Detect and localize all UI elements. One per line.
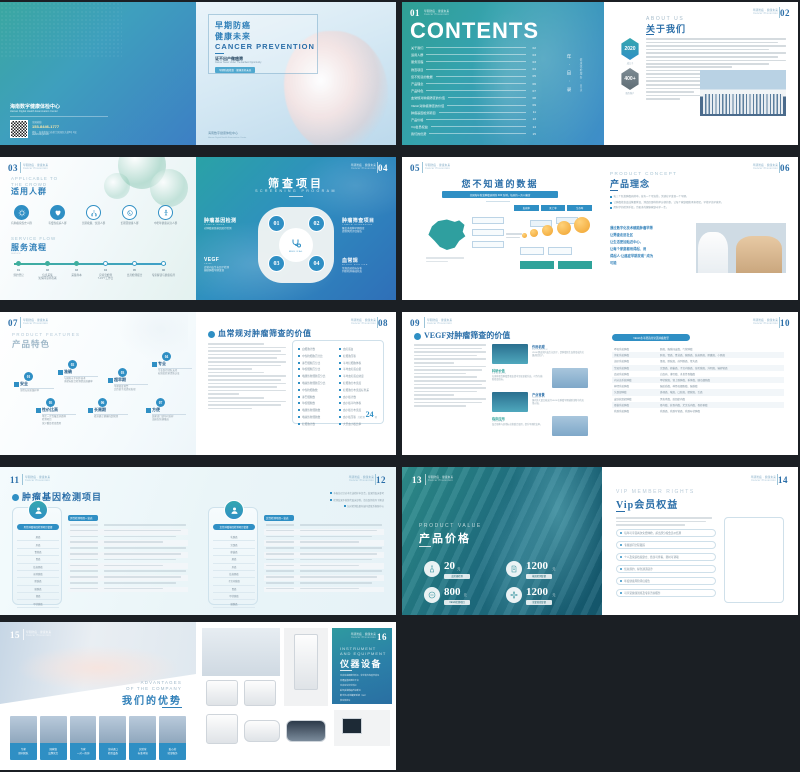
page-tag-en: Cancer Prevention — [427, 322, 452, 325]
crowd-icon-label: 长期亚健康人群 — [115, 222, 144, 225]
page-tag-en: Cancer Prevention — [428, 479, 453, 482]
feature-number[interactable]: 06 — [98, 398, 107, 407]
concept-slogan: 让生活更加贴近中心， — [610, 239, 690, 246]
lungs-icon[interactable] — [86, 205, 101, 220]
company-name-en: Hainan Digital Health Examination Center — [10, 110, 58, 113]
list-item-label: 红细胞分布宽度 — [343, 381, 361, 385]
screening-node-03[interactable]: 03 — [268, 255, 285, 272]
advantage-label: 全球进口 检验设备 — [99, 743, 126, 760]
screening-node-04[interactable]: 04 — [308, 255, 325, 272]
feature-desc: 居家或门诊均可采样 出报告快捷推送 — [152, 415, 194, 422]
feature-number[interactable]: 05 — [46, 398, 55, 407]
concept-bullet-text: 每三个新发肿瘤病例中，就有一个可治愈，关键在早发现一个早期。 — [614, 195, 689, 199]
price-label: 全套筛查套餐 — [526, 600, 552, 605]
divider — [779, 317, 780, 328]
equipment-title-en-2: AND EQUIPMENT — [340, 651, 386, 656]
advantage-label: 专家 一对一咨询 — [70, 743, 97, 760]
vegf-card-en: CLINICAL — [492, 421, 544, 423]
stomach-icon[interactable] — [122, 205, 137, 220]
list-item: 中性粒细胞百分比 — [298, 354, 325, 358]
screening-item-en: TUMOR SCREENING — [342, 224, 390, 226]
data-column-head: 死亡率 — [541, 205, 566, 211]
table-cell-key — [264, 587, 298, 593]
concept-bullet: 每三个新发肿瘤病例中，就有一个可治愈，关键在早发现一个早期。 — [610, 195, 786, 199]
exam-bed-icon — [244, 720, 280, 742]
feature-desc: 全程无创采集样本 — [20, 389, 62, 392]
list-item: 淋巴细胞百分比 — [298, 361, 325, 365]
advantages-title-cn: 我们的优势 — [122, 692, 182, 707]
list-item: 乳腺癌 — [213, 534, 255, 541]
bullet-square-icon — [339, 355, 341, 357]
toc-dash — [436, 76, 526, 77]
page-number: 01 — [410, 8, 420, 18]
bullet-dot-icon — [414, 333, 421, 340]
vip-right-pill[interactable]: 每年可享受两次免费体检，超出部分按会员价结算 — [616, 529, 716, 537]
feature-marker — [58, 370, 63, 375]
advantage-card[interactable]: 国家级 品牌实力 — [40, 716, 67, 760]
page-back-cover: 海南数字健康体检中心 Hainan Digital Health Examina… — [0, 2, 196, 145]
page-number: 16 — [377, 632, 387, 642]
advantage-label: 实验室 标准环境 — [129, 743, 156, 760]
toc-row[interactable]: Vip会员权益14 — [411, 123, 536, 130]
list-item: 单核细胞百分比 — [298, 367, 325, 371]
list-item: 血小板计数 — [339, 395, 369, 399]
vip-right-pill[interactable]: 优先预约、绿色通道就诊 — [616, 565, 716, 573]
spread-vegf-table[interactable]: 09 早期防癌 · 健康未来 Cancer Prevention VEGF对肿瘤… — [402, 312, 798, 455]
vip-right-label: 专属顾问全程跟踪 — [624, 543, 645, 547]
divider — [10, 116, 108, 117]
screening-node-01[interactable]: 01 — [268, 215, 285, 232]
gene-note-text: 本报告仅针对本次送检样本负责，结果供临床参考 — [333, 491, 384, 495]
screening-title-en: SCREENING PROGRAM — [196, 189, 396, 193]
list-item-label: 单核细胞数 — [302, 401, 315, 405]
spread-features-blood[interactable]: 07 早期防癌 · 健康未来 Cancer Prevention PRODUCT… — [0, 312, 396, 455]
divider — [23, 629, 24, 640]
toc-dash — [426, 83, 526, 84]
flow-step-label: 实验室检测 7-15个工作日 — [92, 274, 119, 281]
screening-item-desc: 血管内皮生长因子检测 辅助肿瘤早期发现 — [204, 266, 252, 273]
divider — [486, 201, 510, 202]
dot-pattern — [0, 2, 122, 59]
crowd-title-cn: 适用人群 — [11, 186, 47, 197]
list-item-label: 血小板平均体积 — [343, 401, 361, 405]
list-item-label: 白细胞计数 — [302, 347, 315, 351]
female-avatar-icon — [224, 500, 244, 520]
equipment-list-item: 高通量基因测序平台 — [340, 680, 386, 683]
toc-label: VEGF对肿瘤筛查的价值 — [411, 103, 444, 108]
badge-year: 2020 — [620, 38, 640, 60]
screening-item-title: 血常规 — [342, 257, 390, 264]
male-package-card: 男性肿瘤基因检测项目套餐 肺癌肝癌食管癌胃癌结直肠癌前列腺癌膀胱癌胰腺癌肾癌甲状… — [12, 507, 62, 605]
blood-title: 血常规对肿瘤筛查的价值 — [218, 328, 312, 339]
list-item: 平均血红蛋白量 — [339, 367, 369, 371]
table-cell-value — [298, 587, 384, 593]
page-tag-en-right: Cancer Prevention — [349, 479, 374, 482]
toc-page-number: 07 — [529, 89, 536, 93]
page-product-price: 13 早期防癌 · 健康未来 Cancer Prevention PRODUCT… — [402, 467, 602, 615]
vip-right-pill[interactable]: 个人及家庭档案建立、终身可查看、随时可调取 — [616, 553, 716, 561]
data-column-head: 生存率 — [567, 205, 592, 211]
equipment-photo-monitor — [334, 710, 390, 746]
flow-steps[interactable]: 01预约登记02信息采集 知情同意书签署03采集样本04实验室检测 7-15个工… — [8, 258, 188, 288]
ultrasound-cart-icon — [294, 634, 318, 690]
bullet-square-icon — [298, 355, 300, 357]
bullet-square-icon — [339, 375, 341, 377]
list-item: 卵巢癌 — [213, 549, 255, 556]
toc-row[interactable]: 产品价格13 — [411, 116, 536, 123]
crowd-icon-row[interactable]: 有肿瘤家族史人群有慢性疾病人群长期吸烟、饮酒人群长期亚健康人群中老年健康关注人群 — [8, 205, 188, 229]
page-tag-en: Cancer Prevention — [751, 479, 776, 482]
feature-number[interactable]: 07 — [156, 398, 165, 407]
toc-dash — [429, 133, 526, 134]
toc-row[interactable]: 产品理念06 — [411, 80, 536, 87]
page-tag-en: Cancer Prevention — [25, 479, 50, 482]
list-item: 胃癌 — [17, 556, 59, 563]
gene-notes: 本报告仅针对本次送检样本负责，结果供临床参考检测结果不能替代临床诊断，请在医师指… — [278, 491, 384, 511]
cover-headline-2: 健康未来 — [215, 31, 251, 42]
table-row — [68, 587, 188, 593]
screening-item-en: VEGF — [204, 263, 252, 265]
feature-title: 安全 — [20, 381, 28, 387]
bullet-dot-icon — [610, 196, 612, 198]
toc-row[interactable]: 筛查项目04 — [411, 66, 536, 73]
concept-title-en: PRODUCT CONCEPT — [610, 171, 677, 176]
ct-scanner-icon — [206, 680, 238, 706]
advantage-image — [99, 716, 126, 743]
bullet-square-icon — [298, 409, 300, 411]
list-item: 平均血红蛋白浓度 — [339, 374, 369, 378]
bullet-dot-icon — [620, 532, 622, 534]
gene-note: 检测结果不能替代临床诊断，请在医师指导下解读 — [278, 498, 384, 502]
advantage-image — [129, 716, 156, 743]
feature-marker — [146, 408, 151, 413]
flow-title-cn: 服务流程 — [11, 242, 47, 253]
page-tag-en: Cancer Prevention — [425, 167, 450, 170]
vip-right-pill[interactable]: 专属顾问全程跟踪 — [616, 541, 716, 549]
divider — [377, 162, 378, 173]
vegf-card-image — [492, 344, 528, 364]
bullet-dot-icon — [12, 494, 19, 501]
list-item: 淋巴细胞数 — [298, 395, 325, 399]
bullet-dot-icon — [610, 207, 612, 209]
cover-text-box: 早期防癌 健康未来 CANCER PREVENTION 证不出户做癌筛 Canc… — [208, 14, 318, 74]
stethoscope-icon — [290, 238, 302, 250]
divider — [340, 670, 352, 671]
divider — [610, 190, 618, 191]
vip-right-pill[interactable]: 可享受健康讲座及专家咨询服务 — [616, 589, 716, 597]
list-item-label: 嗜酸性粒细胞数 — [302, 408, 320, 412]
list-item: 大型血小板比率 — [339, 422, 369, 426]
features-title-cn: 产品特色 — [12, 338, 50, 350]
flow-node[interactable] — [132, 261, 137, 266]
divider — [779, 7, 780, 18]
spread-advantages-equipment[interactable]: 15 早期防癌 · 健康未来 Cancer Prevention ADVANTA… — [0, 622, 396, 770]
spread-cover[interactable]: 海南数字健康体检中心 Hainan Digital Health Examina… — [0, 2, 396, 145]
concept-bullet-text: 让肿瘤筛查变成像量体温、测血压那样简单方便的事，让每个家庭都能承担得起，早筛早治… — [614, 201, 724, 205]
feature-marker — [36, 408, 41, 413]
page-about-us: 02 早期防癌 · 健康未来 Cancer Prevention ABOUT U… — [604, 2, 798, 145]
cover-footer-brand-en: Hainan Digital Health Examination Center — [208, 137, 246, 139]
heart-icon[interactable] — [50, 205, 65, 220]
person-icon[interactable] — [158, 205, 173, 220]
vegf-card: 作用机理MECHANISMVEGF即血管内皮生长因子，是肿瘤新生血管形成的关键调… — [532, 344, 584, 358]
vegf-card-en: RESEARCH — [492, 373, 544, 375]
toc-row[interactable]: 关于我们02 — [411, 44, 536, 51]
page-tumor-type-table: 10 早期防癌 · 健康未来 Cancer Prevention VEGF水平增… — [598, 312, 798, 455]
list-item: 中性粒细胞数 — [298, 388, 325, 392]
page-number: 07 — [8, 318, 18, 328]
vegf-card-desc: 在多种恶性肿瘤患者血清中呈现显著升高，可作为辅助筛查指标。 — [492, 376, 544, 382]
divider — [377, 317, 378, 328]
advantage-image — [10, 716, 37, 743]
page-tag-en: Cancer Prevention — [753, 322, 778, 325]
bullet-square-icon — [298, 362, 300, 364]
vegf-card: 临床应用CLINICAL结合影像与其他标志物联合使用，提升早期检出率。 — [492, 416, 544, 427]
screening-node-02[interactable]: 02 — [308, 215, 325, 232]
toc-label: Vip会员权益 — [411, 124, 428, 129]
divider — [20, 162, 21, 173]
page-applicable-crowd: 03 早期防癌 · 健康未来 Cancer Prevention APPLICA… — [0, 157, 196, 300]
toc-row[interactable]: 血常规对肿瘤筛查的价值08 — [411, 94, 536, 101]
toc-row[interactable]: 您不知道的数据05 — [411, 73, 536, 80]
contact-phone: 153-8446-1777 — [32, 124, 59, 129]
price-value: 20 — [444, 560, 455, 572]
toc-label: 产品价格 — [411, 117, 423, 122]
advantage-card[interactable]: 贴心的 转诊服务 — [159, 716, 186, 760]
screening-item-title: 肿瘤基因检测 — [204, 217, 252, 224]
concept-slogan: 得起人·让癌症早期发现" 成为 — [610, 253, 690, 260]
feature-number[interactable]: 01 — [24, 372, 33, 381]
page-number: 04 — [378, 163, 388, 173]
feature-title: 性价比高 — [42, 407, 58, 413]
table-cell-value: 乳腺癌、乳腺导管癌、乳腺叶状肿瘤 — [658, 408, 784, 414]
feature-number[interactable]: 02 — [68, 360, 77, 369]
toc-page-number: 09 — [529, 103, 536, 107]
toc-label: 血常规对肿瘤筛查的价值 — [411, 95, 445, 100]
equipment-list-item: 全自动生化分析仪 — [340, 685, 386, 688]
toc-row[interactable]: VEGF对肿瘤筛查的价值09 — [411, 102, 536, 109]
female-card-tag: 女性肿瘤基因检测项目套餐 — [213, 524, 255, 530]
page-tag-en: Cancer Prevention — [753, 12, 778, 15]
flow-node[interactable] — [103, 261, 108, 266]
equipment-photo-consult — [202, 628, 280, 676]
crowd-icon-label: 有慢性疾病人群 — [43, 222, 72, 225]
advantages-title-en-1: ADVANTAGES — [141, 680, 182, 685]
toc-row[interactable]: 适用人群03 — [411, 51, 536, 58]
concept-slogan-list: 通过数字化技术赋能肿瘤早筛让筛查走进社区让生活更加贴近中心，让每个家庭都用得起、… — [610, 225, 690, 267]
mobile-exam-bus-icon — [286, 720, 326, 742]
vegf-card-desc: 结合影像与其他标志物联合使用，提升早期检出率。 — [492, 424, 544, 427]
divider — [94, 414, 128, 415]
flow-title-en: SERVICE FLOW — [11, 236, 56, 241]
flow-step-label: 预约登记 — [5, 274, 32, 277]
flow-subtitle: SERVICE — [11, 253, 21, 255]
page-contents: 01 早期防癌 · 健康未来 Cancer Prevention CONTENT… — [402, 2, 604, 145]
toc-row[interactable]: 肿瘤基因检测项目11 — [411, 109, 536, 116]
screening-item-text: VEGFVEGF血管内皮生长因子检测 辅助肿瘤早期发现 — [204, 257, 252, 273]
vip-photo-placeholder — [724, 517, 784, 603]
data-subtitle-band: 全国每年新发肿瘤病例约 400 万例，每天约一万人确诊 — [442, 191, 558, 198]
about-body-text — [646, 38, 786, 67]
equipment-list-item: 全自动血细胞分析仪 · 化学发光免疫分析仪 — [340, 675, 386, 678]
page-number: 02 — [780, 8, 790, 18]
feature-title: 长周期 — [94, 407, 106, 413]
vegf-card-image — [552, 416, 588, 436]
divider — [42, 414, 76, 415]
toc-label: 适用人群 — [411, 52, 423, 57]
bullet-square-icon — [339, 423, 341, 425]
vegf-card-en: INDUSTRY — [532, 397, 584, 399]
flow-node[interactable] — [45, 261, 50, 266]
toc-row[interactable]: 我们的优势15 — [411, 130, 536, 137]
flow-node[interactable] — [16, 261, 21, 266]
screening-item-desc: 对肿瘤易感基因进行检测 — [204, 227, 252, 230]
bullet-square-icon — [298, 423, 300, 425]
price-title-en: PRODUCT VALUE — [419, 523, 482, 529]
list-item: 嗜酸性粒细胞数 — [298, 408, 325, 412]
cover-tagline: 早期防癌筛查 · 健康美好未来 — [215, 67, 255, 73]
contents-list[interactable]: 关于我们02适用人群03服务流程03筛查项目04您不知道的数据05产品理念06产… — [411, 44, 536, 137]
hub-label: MEDICAL — [289, 251, 303, 253]
divider — [152, 414, 186, 415]
company-name-cn: 海南数字健康体检中心 — [10, 103, 60, 110]
price-label: VEGF检测项目 — [444, 600, 470, 605]
toc-dash — [439, 112, 526, 113]
male-item-list: 肺癌肝癌食管癌胃癌结直肠癌前列腺癌膀胱癌胰腺癌肾癌甲状腺癌 — [17, 534, 59, 608]
list-item-label: 血小板压积 — [343, 415, 356, 419]
spread-crowd-screening[interactable]: 03 早期防癌 · 健康未来 Cancer Prevention APPLICA… — [0, 157, 396, 300]
bubble-4 — [557, 221, 571, 235]
flow-step-label: 信息采集 知情同意书签署 — [34, 274, 61, 281]
page-number: 09 — [410, 318, 420, 328]
flow-step-label: 采集样本 — [63, 274, 90, 277]
advantage-card-row[interactable]: 专家 顾问团队国家级 品牌实力专家 一对一咨询全球进口 检验设备实验室 标准环境… — [10, 716, 186, 760]
map-note — [426, 257, 466, 264]
toc-row[interactable]: 服务流程03 — [411, 58, 536, 65]
bullet-square-icon — [339, 368, 341, 370]
toc-dash — [431, 126, 526, 127]
divider — [616, 511, 625, 512]
advantage-label: 国家级 品牌实力 — [40, 743, 67, 760]
concept-bullet-text: 用科学的检测手段，为更多的健康家庭守护一生。 — [614, 206, 669, 210]
advantage-image — [159, 716, 186, 743]
crowd-icon-label: 有肿瘤家族史人群 — [7, 222, 36, 225]
blood-indicator-panel: 白细胞计数中性粒细胞百分比淋巴细胞百分比单核细胞百分比嗜酸性粒细胞百分比嗜碱性粒… — [292, 340, 384, 424]
vegf-card-image — [552, 368, 588, 388]
vegf-card-desc: 国内外大量文献支持VEGF在肿瘤早期辅助诊断中的应用价值。 — [532, 400, 584, 406]
page-tag-en: Cancer Prevention — [351, 167, 376, 170]
page-number: 08 — [378, 318, 388, 328]
concept-slogan: 让筛查走进社区 — [610, 232, 690, 239]
divider — [646, 34, 654, 35]
toc-page-number: 13 — [529, 117, 536, 121]
advantage-card[interactable]: 实验室 标准环境 — [129, 716, 156, 760]
bubble-1 — [522, 233, 527, 238]
monitor-icon — [342, 718, 362, 734]
blood-badge-unit: 项 — [375, 415, 377, 419]
feature-title: 方便 — [152, 407, 160, 413]
feature-number[interactable]: 04 — [162, 352, 171, 361]
advantage-card[interactable]: 专家 顾问团队 — [10, 716, 37, 760]
equipment-list-item: 数字化X射线摄影系统（DR） — [340, 695, 386, 698]
screening-hub: MEDICAL — [279, 228, 313, 262]
flow-node[interactable] — [161, 261, 166, 266]
list-item: 血红蛋白 — [339, 347, 369, 351]
toc-dash — [426, 47, 526, 48]
list-item: 平均红细胞体积 — [339, 361, 369, 365]
advantage-label: 专家 顾问团队 — [10, 743, 37, 760]
divider — [20, 388, 54, 389]
price-title-cn: 产品价格 — [419, 530, 471, 546]
toc-page-number: 08 — [529, 96, 536, 100]
flow-step-number: 01 — [7, 269, 30, 272]
divider — [375, 474, 376, 485]
feature-number[interactable]: 03 — [118, 368, 127, 377]
vip-right-pill[interactable]: 年度健康风险评估报告 — [616, 577, 716, 585]
list-item-label: 平均红细胞体积 — [343, 361, 361, 365]
page-tag-en: Cancer Prevention — [351, 322, 376, 325]
gene-note-text: 检测结果不能替代临床诊断，请在医师指导下解读 — [333, 498, 384, 502]
divider — [777, 474, 778, 485]
advantage-card[interactable]: 专家 一对一咨询 — [70, 716, 97, 760]
vertical-subtitle: 健康体检服务 · 目录 — [578, 58, 582, 92]
concept-bullet-list: 每三个新发肿瘤病例中，就有一个可治愈，关键在早发现一个早期。让肿瘤筛查变成像量体… — [610, 195, 786, 212]
list-item-label: 嗜酸性粒细胞百分比 — [302, 374, 325, 378]
blood-badge-number: 24 — [366, 410, 374, 419]
toc-row[interactable]: 产品特色07 — [411, 87, 536, 94]
page-our-advantages: 15 早期防癌 · 健康未来 Cancer Prevention ADVANTA… — [0, 622, 196, 770]
list-item-label: 红细胞计数 — [302, 422, 315, 426]
screening-item-en: TUMOR GENE — [204, 224, 252, 226]
doctor-patient-photo — [696, 223, 786, 273]
spread-data-concept[interactable]: 05 早期防癌 · 健康未来 Cancer Prevention 您不知道的数据… — [402, 157, 798, 300]
price-unit: 元 — [552, 593, 555, 597]
spread-gene-project[interactable]: 11 早期防癌 · 健康未来 Cancer Prevention 12 早期防癌… — [0, 467, 396, 615]
list-item: 结直肠癌 — [17, 564, 59, 571]
map-callout-3 — [472, 241, 504, 248]
list-item: 红细胞计数 — [298, 422, 325, 426]
vertical-title: 年 · 目 · 录 — [566, 54, 572, 94]
microscope-watermark — [118, 312, 188, 360]
bullet-square-icon — [298, 348, 300, 350]
feature-desc: 单次一次性覆盖多癌种 检测项目 减少重复检查费用 — [42, 415, 84, 425]
page-tag-en: Cancer Prevention — [753, 167, 778, 170]
virus-icon[interactable] — [14, 205, 29, 220]
advantage-card[interactable]: 全球进口 检验设备 — [99, 716, 126, 760]
page-tag-en: Cancer Prevention — [23, 322, 48, 325]
male-table-header: 男性检测项目一览表 — [68, 515, 98, 521]
spread-price-vip[interactable]: 13 早期防癌 · 健康未来 Cancer Prevention PRODUCT… — [402, 467, 798, 615]
list-item-label: 血小板计数 — [343, 395, 356, 399]
flow-node[interactable] — [74, 261, 79, 266]
data-column-head: 发病率 — [514, 205, 539, 211]
feature-title: 专业 — [158, 361, 166, 367]
list-item: 肝癌 — [17, 541, 59, 548]
spread-contents-about[interactable]: 01 早期防癌 · 健康未来 Cancer Prevention CONTENT… — [402, 2, 798, 145]
list-item: 前列腺癌 — [17, 571, 59, 578]
page-vegf-value: 09 早期防癌 · 健康未来 Cancer Prevention VEGF对肿瘤… — [402, 312, 598, 455]
flow-step-number: 04 — [94, 269, 117, 272]
list-item-label: 中性粒细胞数 — [302, 388, 318, 392]
page-front-cover: 早期防癌 健康未来 CANCER PREVENTION 证不出户做癌筛 Canc… — [196, 2, 396, 145]
bullet-dot-icon — [620, 580, 622, 582]
table-header-pill: VEGF水平增高的常见肿瘤类型 — [612, 334, 690, 341]
vip-right-label: 可享受健康讲座及专家咨询服务 — [624, 591, 660, 595]
list-item: 膀胱癌 — [17, 578, 59, 585]
page-number: 13 — [412, 475, 422, 485]
bullet-square-icon — [298, 375, 300, 377]
divider — [779, 162, 780, 173]
